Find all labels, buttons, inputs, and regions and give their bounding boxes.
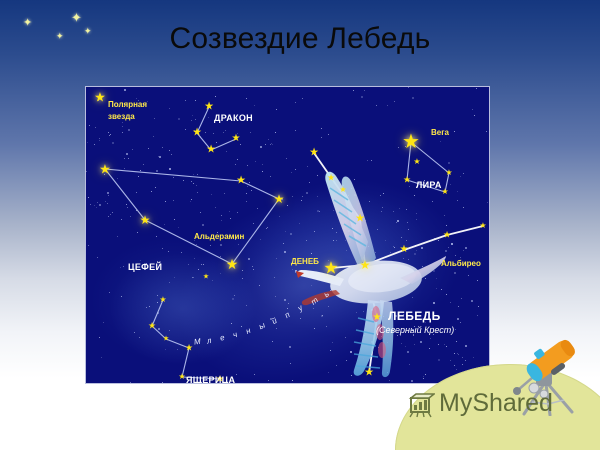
map-label-vega: Вега bbox=[431, 128, 449, 137]
map-label-cepheus: ЦЕФЕЙ bbox=[128, 262, 162, 272]
map-label-deneb: ДЕНЕБ bbox=[291, 257, 319, 266]
map-label-alderamin: Альдерамин bbox=[194, 232, 244, 241]
map-label-lacerta: ЯЩЕРИЦА bbox=[186, 375, 235, 384]
presentation-chart-icon bbox=[407, 392, 435, 418]
map-label-polaris2: звезда bbox=[108, 112, 135, 121]
constellation-line bbox=[182, 348, 189, 377]
constellation-line bbox=[105, 169, 145, 220]
constellation-line bbox=[166, 339, 189, 348]
milky-way-letter: л bbox=[206, 335, 214, 345]
page-title: Созвездие Лебедь bbox=[0, 22, 600, 56]
constellation-line bbox=[197, 107, 209, 133]
map-label-cygnus: ЛЕБЕДЬ bbox=[388, 309, 441, 323]
presentation-slide: ✦✦✦✦ Созвездие Лебедь bbox=[0, 0, 600, 450]
constellation-line bbox=[211, 139, 236, 150]
constellation-line bbox=[314, 153, 360, 219]
myshared-brand-text: MyShared bbox=[439, 389, 553, 418]
myshared-watermark: MyShared bbox=[395, 330, 600, 450]
constellation-line bbox=[407, 142, 411, 180]
constellation-line bbox=[331, 265, 365, 268]
constellation-line bbox=[241, 181, 279, 199]
constellation-line bbox=[411, 142, 449, 173]
constellation-line bbox=[445, 173, 449, 192]
map-label-lyra: ЛИРА bbox=[416, 180, 442, 190]
constellation-line bbox=[152, 300, 163, 326]
map-label-albireo: Альбирео bbox=[441, 259, 481, 268]
map-label-polaris: Полярная bbox=[108, 100, 147, 109]
constellation-line bbox=[365, 250, 404, 265]
constellation-line bbox=[197, 133, 211, 150]
constellation-line bbox=[360, 219, 365, 265]
constellation-line bbox=[447, 226, 483, 235]
milky-way-letter: М bbox=[193, 336, 203, 346]
constellation-line bbox=[105, 169, 241, 181]
constellation-line bbox=[152, 326, 166, 339]
constellation-line bbox=[145, 220, 232, 264]
constellation-line bbox=[404, 235, 447, 250]
constellation-line bbox=[365, 265, 377, 318]
map-label-draco: ДРАКОН bbox=[214, 113, 253, 123]
